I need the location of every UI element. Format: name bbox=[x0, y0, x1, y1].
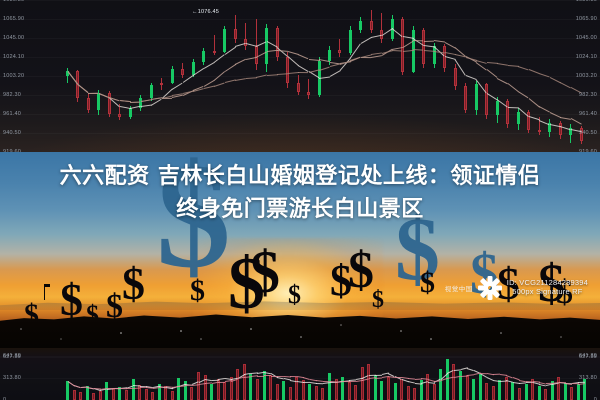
volume-ma-segment bbox=[113, 388, 120, 389]
volume-bar bbox=[105, 382, 108, 400]
volume-bar bbox=[492, 386, 495, 400]
dollar-sign-icon: $ bbox=[250, 246, 280, 299]
volume-bar bbox=[99, 391, 102, 400]
sparkle bbox=[300, 336, 302, 338]
volume-bar bbox=[472, 379, 475, 400]
volume-bar bbox=[328, 373, 331, 400]
volume-bar bbox=[315, 386, 318, 400]
ma-segment bbox=[507, 83, 518, 92]
ma-segment bbox=[497, 63, 508, 65]
candle bbox=[464, 83, 467, 114]
watermark: 视觉中国 ID: VCG211284289394 500px Signature… bbox=[445, 276, 588, 300]
candle-body bbox=[265, 28, 268, 64]
volume-ma-segment bbox=[375, 374, 382, 375]
candle-body bbox=[202, 51, 205, 62]
ma-segment bbox=[224, 64, 235, 72]
candle bbox=[108, 91, 111, 117]
volume-ma-segment bbox=[526, 381, 533, 382]
gridline bbox=[0, 357, 600, 358]
y-tick-label: 1003.20 bbox=[3, 73, 24, 79]
y-tick-label: 1045.00 bbox=[3, 35, 24, 41]
volume-ma-segment bbox=[467, 374, 474, 375]
y-tick-label: 940.50 bbox=[3, 130, 21, 136]
volume-bar bbox=[145, 389, 148, 400]
y-tick-label: 1065.90 bbox=[3, 16, 24, 22]
candle-body bbox=[517, 112, 520, 125]
y-tick-label: 1086.80 bbox=[3, 0, 24, 3]
candle-body bbox=[496, 101, 499, 116]
candle bbox=[380, 13, 383, 42]
candle bbox=[454, 64, 457, 89]
volume-ma-segment bbox=[493, 374, 500, 375]
candle-body bbox=[129, 108, 132, 117]
candle-body bbox=[422, 30, 425, 65]
volume-bar bbox=[348, 382, 351, 400]
gridline bbox=[0, 0, 600, 1]
gridline bbox=[0, 38, 600, 39]
volume-ma-segment bbox=[159, 386, 166, 387]
ma-segment bbox=[486, 70, 497, 79]
candle bbox=[338, 39, 341, 57]
ma-segment bbox=[288, 72, 299, 74]
watermark-brand-cn: 视觉中国 bbox=[445, 283, 473, 293]
candle-body bbox=[286, 57, 289, 83]
volume-bar bbox=[557, 377, 560, 400]
ma-segment bbox=[549, 77, 560, 83]
candle bbox=[244, 23, 247, 50]
candle-body bbox=[485, 84, 488, 115]
volume-y-tick-label: 313.80 bbox=[3, 375, 21, 381]
sparkle bbox=[500, 332, 502, 334]
gridline bbox=[0, 378, 600, 379]
volume-bar bbox=[151, 392, 154, 400]
volume-bar bbox=[367, 364, 370, 400]
volume-ma-segment bbox=[395, 377, 402, 378]
volume-bar bbox=[413, 388, 416, 400]
volume-bar bbox=[485, 383, 488, 400]
gridline bbox=[0, 133, 600, 134]
dollar-sign-icon: $ bbox=[60, 280, 83, 320]
volume-bar bbox=[400, 379, 403, 400]
volume-bar bbox=[374, 375, 377, 400]
volume-bar bbox=[564, 383, 567, 400]
price-candlestick-chart: 1086.801065.901045.001024.101003.20982.3… bbox=[0, 0, 600, 152]
ma-segment bbox=[434, 40, 445, 42]
candle-body bbox=[97, 93, 100, 110]
volume-bar bbox=[361, 367, 364, 400]
volume-bar bbox=[518, 388, 521, 400]
ma-segment bbox=[528, 69, 539, 74]
volume-bar bbox=[380, 381, 383, 400]
watermark-signature: 500px Signature RF bbox=[507, 288, 588, 297]
headline-line-2: 终身免门票游长白山景区 bbox=[0, 193, 600, 226]
candle-wick bbox=[339, 39, 340, 57]
candle-body bbox=[181, 69, 184, 75]
volume-ma-segment bbox=[74, 385, 81, 388]
gridline bbox=[0, 95, 600, 96]
dollar-sign-icon: $ bbox=[420, 270, 435, 296]
sparkle bbox=[340, 324, 342, 326]
candle bbox=[506, 99, 509, 128]
volume-bar bbox=[243, 364, 246, 400]
volume-bar bbox=[544, 389, 547, 400]
volume-bar bbox=[577, 384, 580, 400]
ma-segment bbox=[130, 101, 141, 102]
volume-bar bbox=[171, 391, 174, 400]
candle-body bbox=[454, 68, 457, 86]
candle bbox=[181, 63, 184, 78]
volume-bar bbox=[249, 374, 252, 400]
y-tick-label: 1045.00 bbox=[576, 35, 597, 41]
volume-y-tick-label: 627.59 bbox=[3, 354, 21, 360]
ma-segment bbox=[225, 80, 236, 83]
candle bbox=[475, 81, 478, 116]
volume-bar-chart: 641.39627.59313.800 641.39627.59313.800 bbox=[0, 348, 600, 400]
volume-ma-segment bbox=[480, 373, 487, 374]
candle bbox=[223, 26, 226, 53]
candle-body bbox=[118, 114, 121, 117]
gridline bbox=[0, 19, 600, 20]
volume-bar bbox=[570, 387, 573, 400]
volume-bar bbox=[433, 384, 436, 400]
candle bbox=[171, 66, 174, 84]
headline-text: 六六配资 吉林长白山婚姻登记处上线：领证情侣 终身免门票游长白山景区 bbox=[0, 160, 600, 226]
ma-segment bbox=[235, 59, 246, 65]
candle bbox=[307, 79, 310, 99]
ma-segment bbox=[508, 65, 519, 67]
candle-body bbox=[150, 85, 153, 98]
ma-segment bbox=[539, 106, 550, 112]
candle-body bbox=[276, 28, 279, 57]
volume-bar bbox=[289, 387, 292, 400]
ma-segment bbox=[424, 40, 435, 41]
y-tick-label: 1065.90 bbox=[576, 16, 597, 22]
volume-bar bbox=[223, 382, 226, 400]
gridline bbox=[0, 76, 600, 77]
sparkle bbox=[200, 338, 202, 340]
candle bbox=[359, 17, 362, 33]
volume-bar bbox=[354, 385, 357, 400]
candle-body bbox=[307, 92, 310, 96]
candle-wick bbox=[308, 79, 309, 99]
volume-bar bbox=[439, 369, 442, 400]
candle-body bbox=[223, 29, 226, 52]
candle bbox=[265, 24, 268, 71]
volume-bar bbox=[73, 390, 76, 400]
y-tick-label: 961.40 bbox=[579, 111, 597, 117]
volume-bar bbox=[466, 375, 469, 400]
volume-bar bbox=[387, 377, 390, 400]
volume-bar bbox=[276, 384, 279, 400]
ma-segment bbox=[267, 74, 278, 75]
ma-segment bbox=[308, 59, 319, 61]
sparkle bbox=[430, 338, 432, 340]
volume-y-tick-label: 627.59 bbox=[579, 354, 597, 360]
volume-bar bbox=[190, 387, 193, 400]
watermark-text-block: ID: VCG211284289394 500px Signature RF bbox=[507, 279, 588, 297]
volume-bar bbox=[236, 369, 239, 400]
candle bbox=[213, 35, 216, 55]
candle bbox=[160, 78, 163, 90]
ma-segment bbox=[298, 65, 309, 72]
candle bbox=[276, 26, 279, 61]
ma-segment bbox=[298, 72, 308, 73]
gridline bbox=[0, 57, 600, 58]
candle bbox=[349, 26, 352, 55]
candle-body bbox=[213, 51, 216, 53]
sparkle bbox=[180, 330, 182, 332]
volume-bar bbox=[125, 390, 128, 400]
candle-body bbox=[328, 50, 331, 61]
volume-bar bbox=[321, 388, 324, 400]
volume-bar bbox=[79, 392, 82, 400]
candle bbox=[422, 28, 425, 68]
sparkle bbox=[560, 336, 562, 338]
ma-segment bbox=[445, 52, 456, 55]
candle bbox=[548, 119, 551, 137]
dollar-sign-icon: $ bbox=[348, 248, 374, 294]
candle bbox=[370, 10, 373, 34]
candle-body bbox=[559, 123, 562, 136]
candle bbox=[559, 121, 562, 139]
volume-bar bbox=[132, 379, 135, 400]
y-tick-label: 982.30 bbox=[3, 92, 21, 98]
flag-icon bbox=[44, 284, 45, 300]
hero-photo: $$$$$$$$$$$$$$$$$$$ 六六配资 吉林长白山婚姻登记处上线：领证… bbox=[0, 152, 600, 348]
starburst-icon bbox=[478, 276, 502, 300]
ma-segment bbox=[88, 93, 98, 94]
volume-bar bbox=[197, 372, 200, 400]
volume-bar bbox=[302, 380, 305, 400]
volume-ma-segment bbox=[218, 381, 225, 382]
ma-segment bbox=[204, 86, 215, 89]
y-tick-label: 982.30 bbox=[579, 92, 597, 98]
ma-segment bbox=[329, 64, 340, 67]
candle-body bbox=[506, 101, 509, 125]
candle-body bbox=[171, 69, 174, 83]
volume-bar bbox=[538, 386, 541, 400]
candle-body bbox=[160, 83, 163, 86]
candle bbox=[297, 75, 300, 95]
candle bbox=[485, 83, 488, 119]
sparkle bbox=[60, 338, 62, 340]
volume-bar bbox=[66, 381, 69, 400]
y-tick-label: 1024.10 bbox=[3, 54, 24, 60]
dollar-sign-icon: $ bbox=[106, 292, 123, 322]
candle-body bbox=[338, 50, 341, 54]
candle bbox=[234, 15, 237, 42]
volume-ma-segment bbox=[375, 377, 382, 378]
ma-segment bbox=[424, 50, 435, 52]
ma-segment bbox=[560, 117, 571, 120]
volume-bar bbox=[308, 384, 311, 400]
dollar-sign-icon: $ bbox=[190, 278, 205, 304]
gridline bbox=[0, 114, 600, 115]
volume-bar bbox=[177, 378, 180, 400]
ma-segment bbox=[528, 98, 539, 107]
candle-body bbox=[349, 30, 352, 54]
volume-y-tick-label: 313.80 bbox=[579, 375, 597, 381]
volume-bar bbox=[112, 388, 115, 400]
ma-segment bbox=[497, 78, 508, 84]
sparkle bbox=[250, 328, 252, 330]
candle bbox=[202, 48, 205, 65]
volume-bar bbox=[92, 393, 95, 400]
volume-bar bbox=[511, 382, 514, 400]
y-tick-label: 1086.80 bbox=[576, 0, 597, 3]
candle bbox=[139, 95, 142, 110]
candle bbox=[87, 93, 90, 113]
candle-body bbox=[87, 98, 90, 110]
volume-bar bbox=[525, 384, 528, 400]
ma-segment bbox=[214, 82, 225, 86]
volume-bar bbox=[256, 379, 259, 400]
volume-bar bbox=[407, 386, 410, 400]
y-tick-label: 961.40 bbox=[3, 111, 21, 117]
headline-line-1: 六六配资 吉林长白山婚姻登记处上线：领证情侣 bbox=[0, 160, 600, 193]
volume-ma-segment bbox=[408, 381, 415, 383]
ma-segment bbox=[560, 82, 571, 88]
ma-segment bbox=[487, 62, 498, 64]
candle bbox=[443, 44, 446, 71]
sparkle bbox=[400, 330, 402, 332]
dollar-sign-icon: $ bbox=[372, 290, 384, 311]
candle bbox=[527, 110, 530, 134]
volume-bar bbox=[498, 380, 501, 400]
volume-bar bbox=[210, 384, 213, 400]
dollar-sign-icon: $ bbox=[288, 284, 301, 307]
candle-body bbox=[475, 84, 478, 109]
ma-segment bbox=[392, 50, 403, 51]
ma-segment bbox=[120, 100, 131, 102]
volume-bar bbox=[446, 359, 449, 400]
dollar-sign-icon: $ bbox=[122, 264, 145, 304]
price-annotation-label: ←1076.45 bbox=[192, 9, 219, 15]
y-tick-label: 1024.10 bbox=[576, 54, 597, 60]
candle-body bbox=[234, 29, 237, 39]
volume-ma-segment bbox=[277, 376, 284, 377]
ma-segment bbox=[382, 50, 393, 54]
volume-bar bbox=[282, 381, 285, 400]
y-tick-label: 940.50 bbox=[579, 130, 597, 136]
ma-segment bbox=[518, 66, 529, 70]
candle bbox=[517, 108, 520, 130]
ma-segment bbox=[246, 77, 257, 78]
candle-body bbox=[464, 86, 467, 110]
volume-bar bbox=[269, 375, 272, 400]
ma-segment bbox=[172, 95, 183, 98]
candle-body bbox=[370, 21, 373, 30]
sparkle bbox=[120, 332, 122, 334]
ma-segment bbox=[235, 78, 246, 81]
candle-body bbox=[297, 83, 300, 91]
volume-bar bbox=[394, 383, 397, 400]
sparkle bbox=[20, 328, 22, 330]
candle bbox=[569, 124, 572, 142]
volume-bar bbox=[479, 374, 482, 400]
candle-body bbox=[538, 130, 541, 132]
y-tick-label: 1003.20 bbox=[576, 73, 597, 79]
candle-body bbox=[359, 21, 362, 30]
screenshot-canvas: 1086.801065.901045.001024.101003.20982.3… bbox=[0, 0, 600, 400]
